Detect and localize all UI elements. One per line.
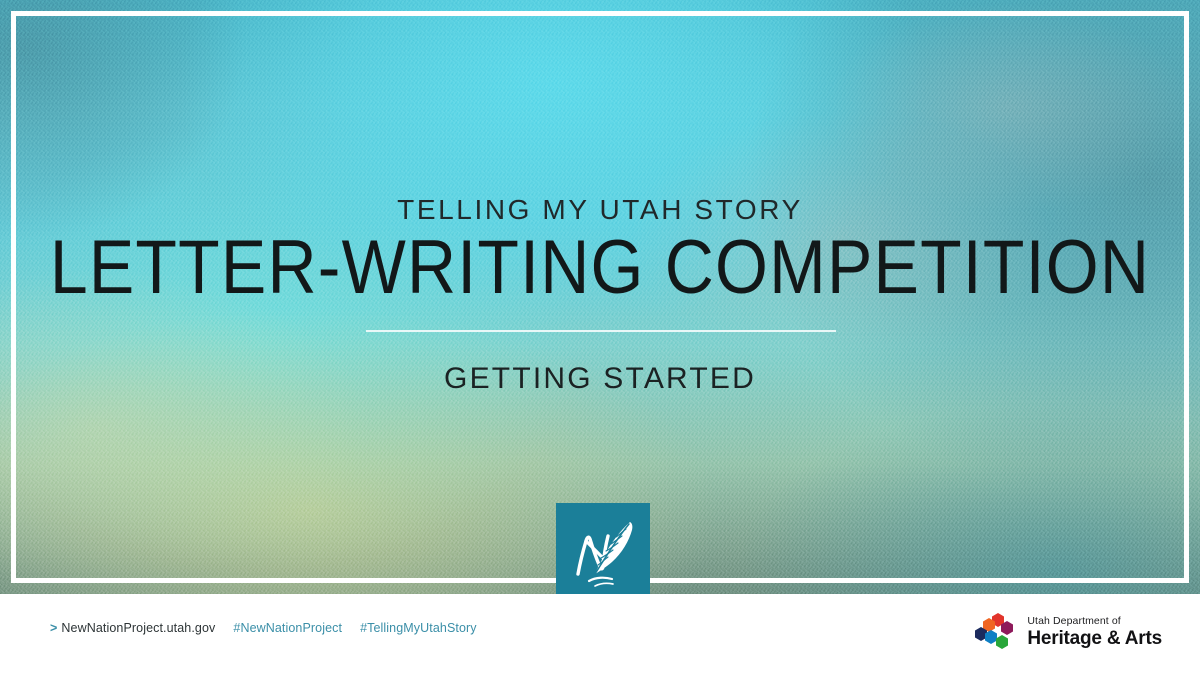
utah-heritage-arts-logo: Utah Department of Heritage & Arts bbox=[974, 612, 1162, 652]
hexagon-cluster-icon bbox=[974, 612, 1018, 652]
footer-website-link[interactable]: >NewNationProject.utah.gov bbox=[50, 621, 215, 635]
footer-link-group: >NewNationProject.utah.gov #NewNationPro… bbox=[50, 621, 477, 635]
presentation-slide: TELLING MY UTAH STORY LETTER-WRITING COM… bbox=[0, 0, 1200, 675]
quill-pen-icon bbox=[556, 503, 650, 594]
agency-name-line: Heritage & Arts bbox=[1027, 629, 1162, 648]
hashtag-telling-my-utah-story[interactable]: #TellingMyUtahStory bbox=[360, 621, 477, 635]
chevron-right-icon: > bbox=[50, 621, 57, 635]
slide-headline: LETTER-WRITING COMPETITION bbox=[0, 229, 1200, 305]
new-nation-project-logo-mark bbox=[556, 503, 650, 594]
slide-eyebrow: TELLING MY UTAH STORY bbox=[0, 194, 1200, 226]
slide-subheading: GETTING STARTED bbox=[0, 362, 1200, 396]
hero-background: TELLING MY UTAH STORY LETTER-WRITING COM… bbox=[0, 0, 1200, 594]
title-divider-rule bbox=[366, 330, 836, 332]
hashtag-new-nation-project[interactable]: #NewNationProject bbox=[233, 621, 342, 635]
agency-logo-text: Utah Department of Heritage & Arts bbox=[1027, 616, 1162, 649]
agency-department-line: Utah Department of bbox=[1027, 616, 1162, 627]
footer-bar: >NewNationProject.utah.gov #NewNationPro… bbox=[0, 594, 1200, 675]
footer-website-url: NewNationProject.utah.gov bbox=[61, 621, 215, 635]
